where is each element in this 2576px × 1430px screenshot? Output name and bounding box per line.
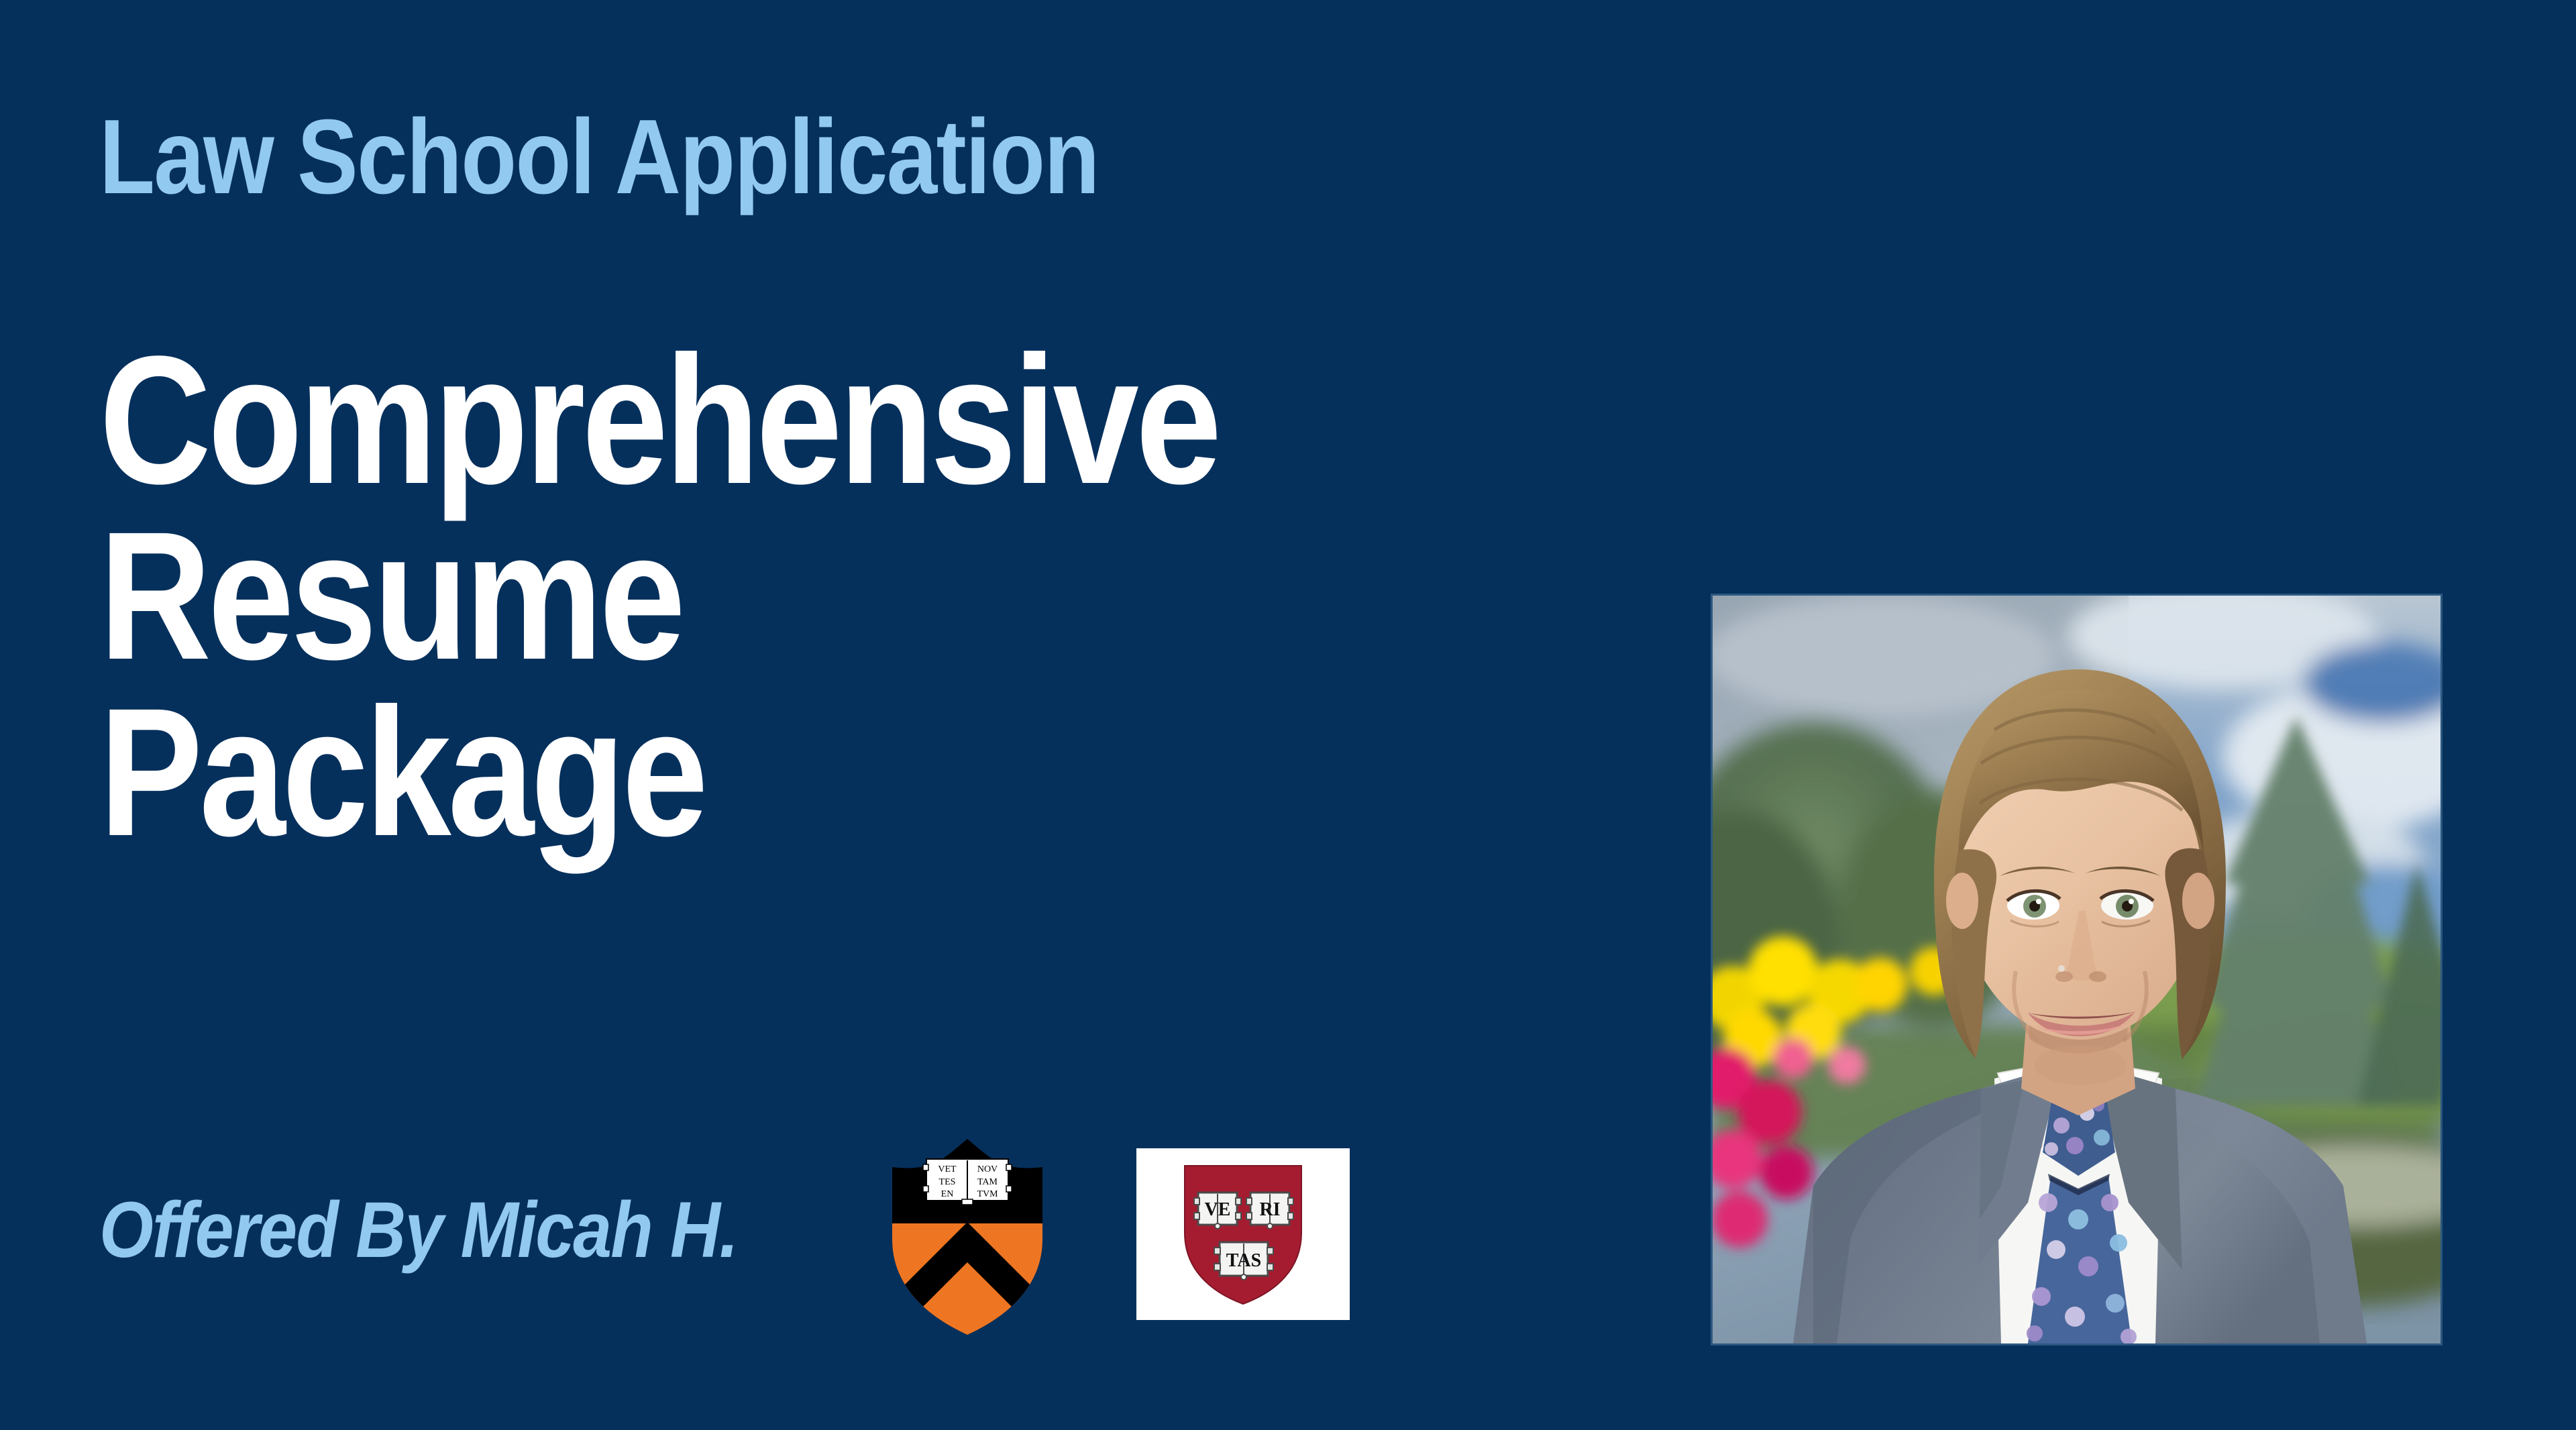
page-title: Comprehensive Resume Package: [99, 332, 1218, 860]
headline-line-2: Resume: [99, 508, 1218, 683]
svg-text:RI: RI: [1259, 1199, 1280, 1220]
princeton-book-right-2: TAM: [977, 1177, 998, 1187]
headline-line-3: Package: [99, 684, 1218, 860]
princeton-book-left-2: TES: [939, 1177, 956, 1187]
portrait-photo: [1713, 596, 2440, 1343]
eyebrow-label: Law School Application: [99, 104, 1099, 210]
harvard-book-ri: RI: [1246, 1193, 1293, 1229]
harvard-book-tas: TAS: [1214, 1242, 1273, 1280]
princeton-book-left-1: VET: [938, 1164, 957, 1174]
princeton-shield-icon: VET TES EN NOV TAM TVM: [887, 1139, 1048, 1335]
institution-logos: VET TES EN NOV TAM TVM VE: [887, 1134, 1356, 1341]
princeton-book-right-3: TVM: [977, 1189, 998, 1199]
harvard-book-ve: VE: [1194, 1193, 1241, 1229]
princeton-book-left-3: EN: [941, 1189, 954, 1199]
offered-by-label: Offered By Micah H.: [99, 1191, 737, 1270]
harvard-shield-icon: VE RI TAS: [1136, 1148, 1350, 1320]
princeton-book-right-1: NOV: [977, 1164, 998, 1174]
svg-text:VE: VE: [1205, 1199, 1231, 1220]
hero-text-column: Law School Application Comprehensive Res…: [99, 0, 1642, 1430]
headline-line-1: Comprehensive: [99, 332, 1218, 508]
svg-text:TAS: TAS: [1226, 1250, 1261, 1271]
princeton-book-icon: VET TES EN NOV TAM TVM: [923, 1159, 1012, 1205]
